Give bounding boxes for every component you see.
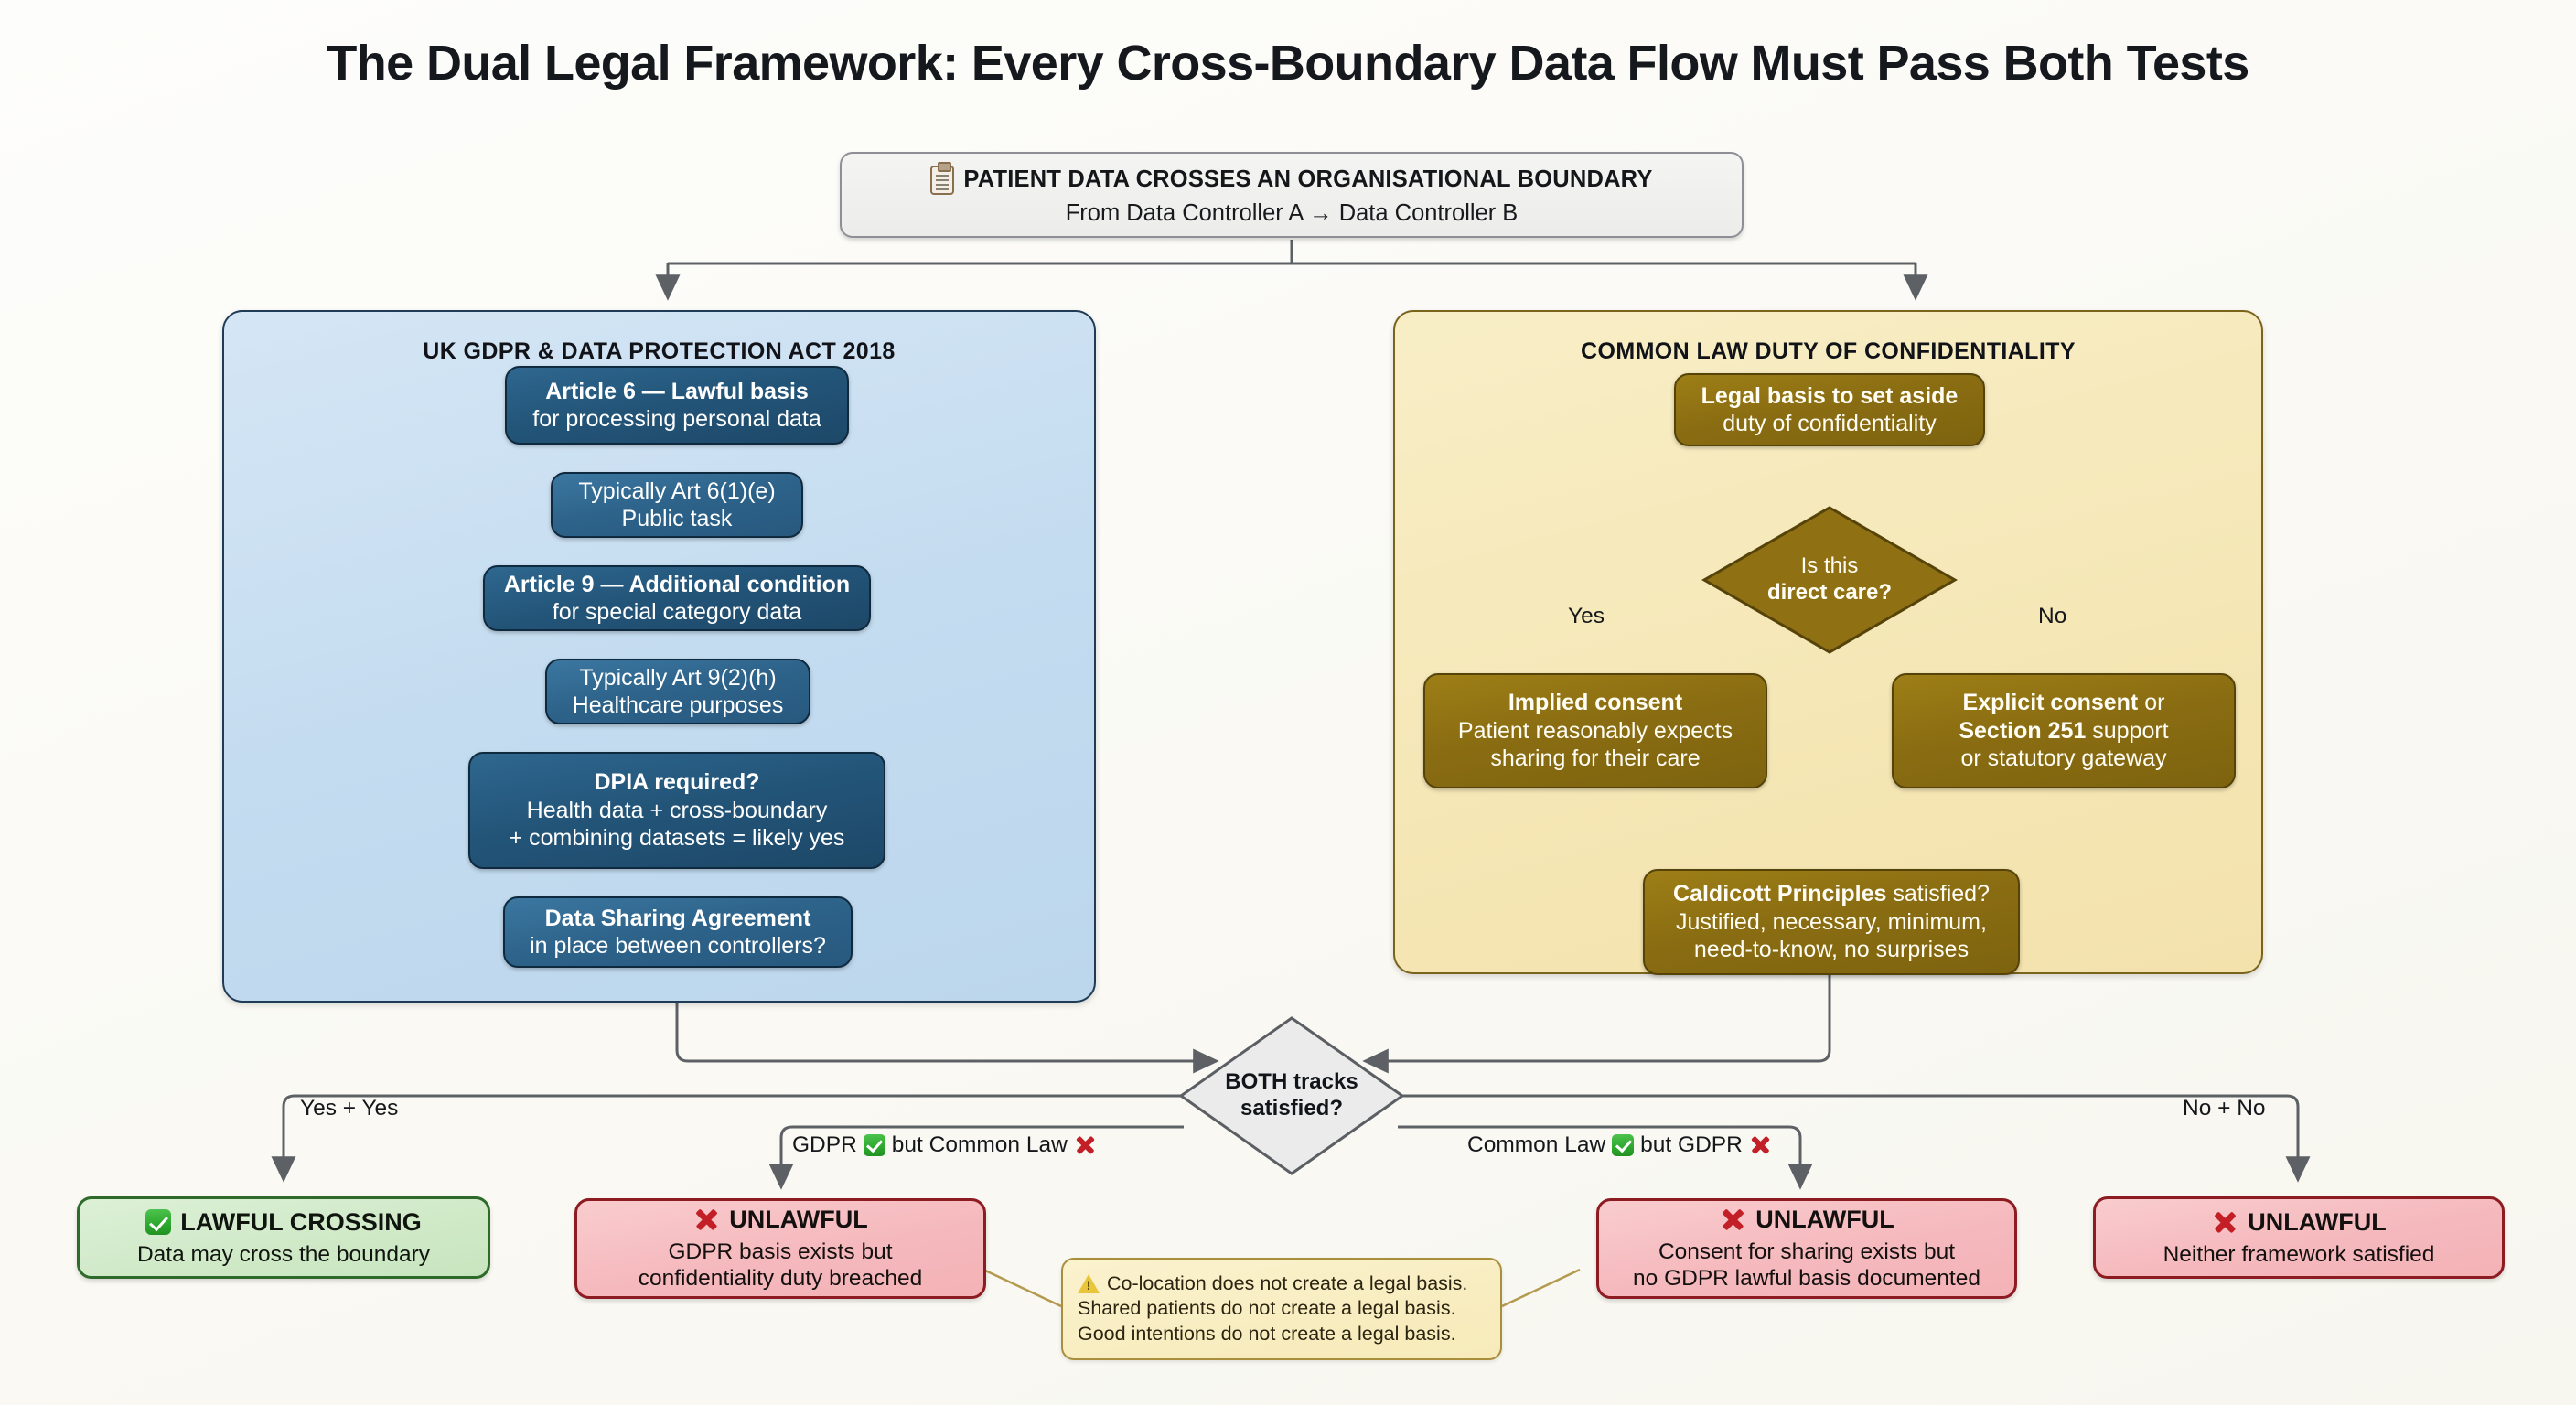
cross-icon	[1719, 1206, 1746, 1233]
node-article-9-bold: Article 9 — Additional condition	[504, 572, 850, 597]
node-implied-consent-line2: sharing for their care	[1490, 745, 1700, 773]
warning-icon	[1078, 1274, 1100, 1293]
node-section-251-bold: Section 251	[1959, 718, 2086, 744]
diagram-canvas: The Dual Legal Framework: Every Cross-Bo…	[0, 0, 2576, 1405]
merge-line1: BOTH tracks	[1225, 1069, 1358, 1096]
node-legal-basis-bold: Legal basis to set aside	[1701, 383, 1959, 409]
edge-label-yes: Yes	[1568, 604, 1605, 629]
node-art-9-2-h: Typically Art 9(2)(h) Healthcare purpose…	[545, 659, 810, 724]
decision-direct-care-line1: Is this	[1767, 553, 1892, 580]
node-article-9: Article 9 — Additional condition for spe…	[483, 565, 871, 631]
entry-heading: PATIENT DATA CROSSES AN ORGANISATIONAL B…	[963, 166, 1652, 194]
outcome-unlawful-clc-ok: UNLAWFUL Consent for sharing exists but …	[1596, 1198, 2017, 1299]
outcome-lawful-sub: Data may cross the boundary	[137, 1241, 430, 1269]
panel-uk-gdpr-title: UK GDPR & DATA PROTECTION ACT 2018	[224, 338, 1094, 365]
decision-direct-care-line2: direct care?	[1767, 580, 1892, 606]
node-dpia-bold: DPIA required?	[594, 769, 759, 795]
node-art-6-1-e: Typically Art 6(1)(e) Public task	[551, 472, 803, 538]
entry-subtitle: From Data Controller A → Data Controller…	[1066, 199, 1519, 228]
node-art-6-1-e-line1: Typically Art 6(1)(e)	[578, 477, 775, 506]
node-implied-consent: Implied consent Patient reasonably expec…	[1423, 673, 1767, 788]
decision-direct-care: Is this direct care?	[1701, 505, 1958, 655]
outcome-unlawful-gdpr-ok: UNLAWFUL GDPR basis exists but confident…	[574, 1198, 986, 1299]
outcome-unlawful-2-heading: UNLAWFUL	[1755, 1205, 1894, 1235]
note-line3: Good intentions do not create a legal ba…	[1078, 1322, 1486, 1347]
edge-label-gdpr-ok-clc-fail-a: GDPR	[792, 1132, 857, 1158]
note-line1: Co-location does not create a legal basi…	[1107, 1271, 1467, 1297]
cross-icon	[692, 1206, 720, 1233]
edge-label-no-no: No + No	[2183, 1096, 2266, 1121]
node-implied-consent-line1: Patient reasonably expects	[1458, 717, 1733, 745]
check-icon	[864, 1134, 885, 1156]
outcome-unlawful-3-sub: Neither framework satisfied	[2163, 1241, 2435, 1269]
node-explicit-consent: Explicit consent or Section 251 support …	[1892, 673, 2236, 788]
outcome-unlawful-2-sub2: no GDPR lawful basis documented	[1633, 1265, 1980, 1292]
node-art-6-1-e-line2: Public task	[622, 505, 733, 533]
node-dsa-rest: in place between controllers?	[530, 932, 826, 960]
note-line2: Shared patients do not create a legal ba…	[1078, 1296, 1486, 1322]
node-explicit-consent-or1: or	[2138, 690, 2164, 715]
node-legal-basis-set-aside: Legal basis to set aside duty of confide…	[1674, 373, 1985, 446]
edge-label-gdpr-ok-clc-fail: GDPR but Common Law	[792, 1132, 1097, 1158]
node-dpia-line2: + combining datasets = likely yes	[510, 824, 845, 853]
node-data-sharing-agreement: Data Sharing Agreement in place between …	[503, 896, 853, 968]
entry-node: PATIENT DATA CROSSES AN ORGANISATIONAL B…	[840, 152, 1744, 238]
outcome-unlawful-2-sub1: Consent for sharing exists but	[1658, 1239, 1955, 1266]
node-dpia-line1: Health data + cross-boundary	[527, 797, 828, 825]
node-dpia: DPIA required? Health data + cross-bound…	[468, 752, 885, 869]
outcome-unlawful-1-sub1: GDPR basis exists but	[668, 1239, 892, 1266]
node-caldicott-principles: Caldicott Principles satisfied? Justifie…	[1643, 869, 2020, 975]
check-icon	[1612, 1134, 1634, 1156]
edge-label-yes-yes: Yes + Yes	[300, 1096, 398, 1121]
cross-icon	[2211, 1208, 2238, 1236]
node-caldicott-bold: Caldicott Principles	[1673, 881, 1886, 906]
node-article-6-bold: Article 6 — Lawful basis	[545, 379, 809, 404]
node-article-6-rest: for processing personal data	[532, 405, 821, 434]
edge-label-clc-ok-gdpr-fail: Common Law but GDPR	[1467, 1132, 1772, 1158]
check-icon	[145, 1209, 171, 1235]
node-art-9-2-h-line2: Healthcare purposes	[573, 692, 784, 720]
node-art-9-2-h-line1: Typically Art 9(2)(h)	[579, 664, 776, 692]
node-legal-basis-rest: duty of confidentiality	[1723, 410, 1936, 438]
node-caldicott-line2: Justified, necessary, minimum,	[1676, 908, 1987, 937]
edge-label-no: No	[2038, 604, 2066, 629]
node-implied-consent-bold: Implied consent	[1508, 690, 1682, 715]
panel-common-law-title: COMMON LAW DUTY OF CONFIDENTIALITY	[1395, 338, 2261, 365]
edge-label-clc-ok-gdpr-fail-b: but GDPR	[1640, 1132, 1743, 1158]
outcome-lawful-heading: LAWFUL CROSSING	[180, 1207, 422, 1238]
node-caldicott-rest: satisfied?	[1886, 881, 1990, 906]
cross-icon	[1749, 1134, 1772, 1157]
outcome-unlawful-3-heading: UNLAWFUL	[2248, 1207, 2386, 1238]
node-article-6: Article 6 — Lawful basis for processing …	[505, 366, 849, 445]
merge-line2: satisfied?	[1225, 1096, 1358, 1122]
outcome-unlawful-1-sub2: confidentiality duty breached	[639, 1265, 923, 1292]
outcome-unlawful-1-heading: UNLAWFUL	[729, 1205, 867, 1235]
decision-both-tracks-satisfied: BOTH tracks satisfied?	[1178, 1015, 1405, 1176]
edge-label-clc-ok-gdpr-fail-a: Common Law	[1467, 1132, 1605, 1158]
cross-icon	[1074, 1134, 1097, 1157]
node-statutory-gateway: or statutory gateway	[1960, 745, 2166, 773]
node-dsa-bold: Data Sharing Agreement	[545, 906, 811, 931]
clipboard-icon	[930, 166, 954, 195]
page-title: The Dual Legal Framework: Every Cross-Bo…	[0, 35, 2576, 91]
node-caldicott-line3: need-to-know, no surprises	[1694, 936, 1969, 964]
outcome-unlawful-neither: UNLAWFUL Neither framework satisfied	[2093, 1196, 2505, 1279]
note-legal-basis-caveats: Co-location does not create a legal basi…	[1061, 1258, 1502, 1360]
node-article-9-rest: for special category data	[553, 598, 801, 627]
edge-label-gdpr-ok-clc-fail-b: but Common Law	[892, 1132, 1068, 1158]
outcome-lawful-crossing: LAWFUL CROSSING Data may cross the bound…	[77, 1196, 490, 1279]
node-explicit-consent-bold: Explicit consent	[1963, 690, 2139, 715]
node-section-251-rest: support	[2086, 718, 2168, 744]
